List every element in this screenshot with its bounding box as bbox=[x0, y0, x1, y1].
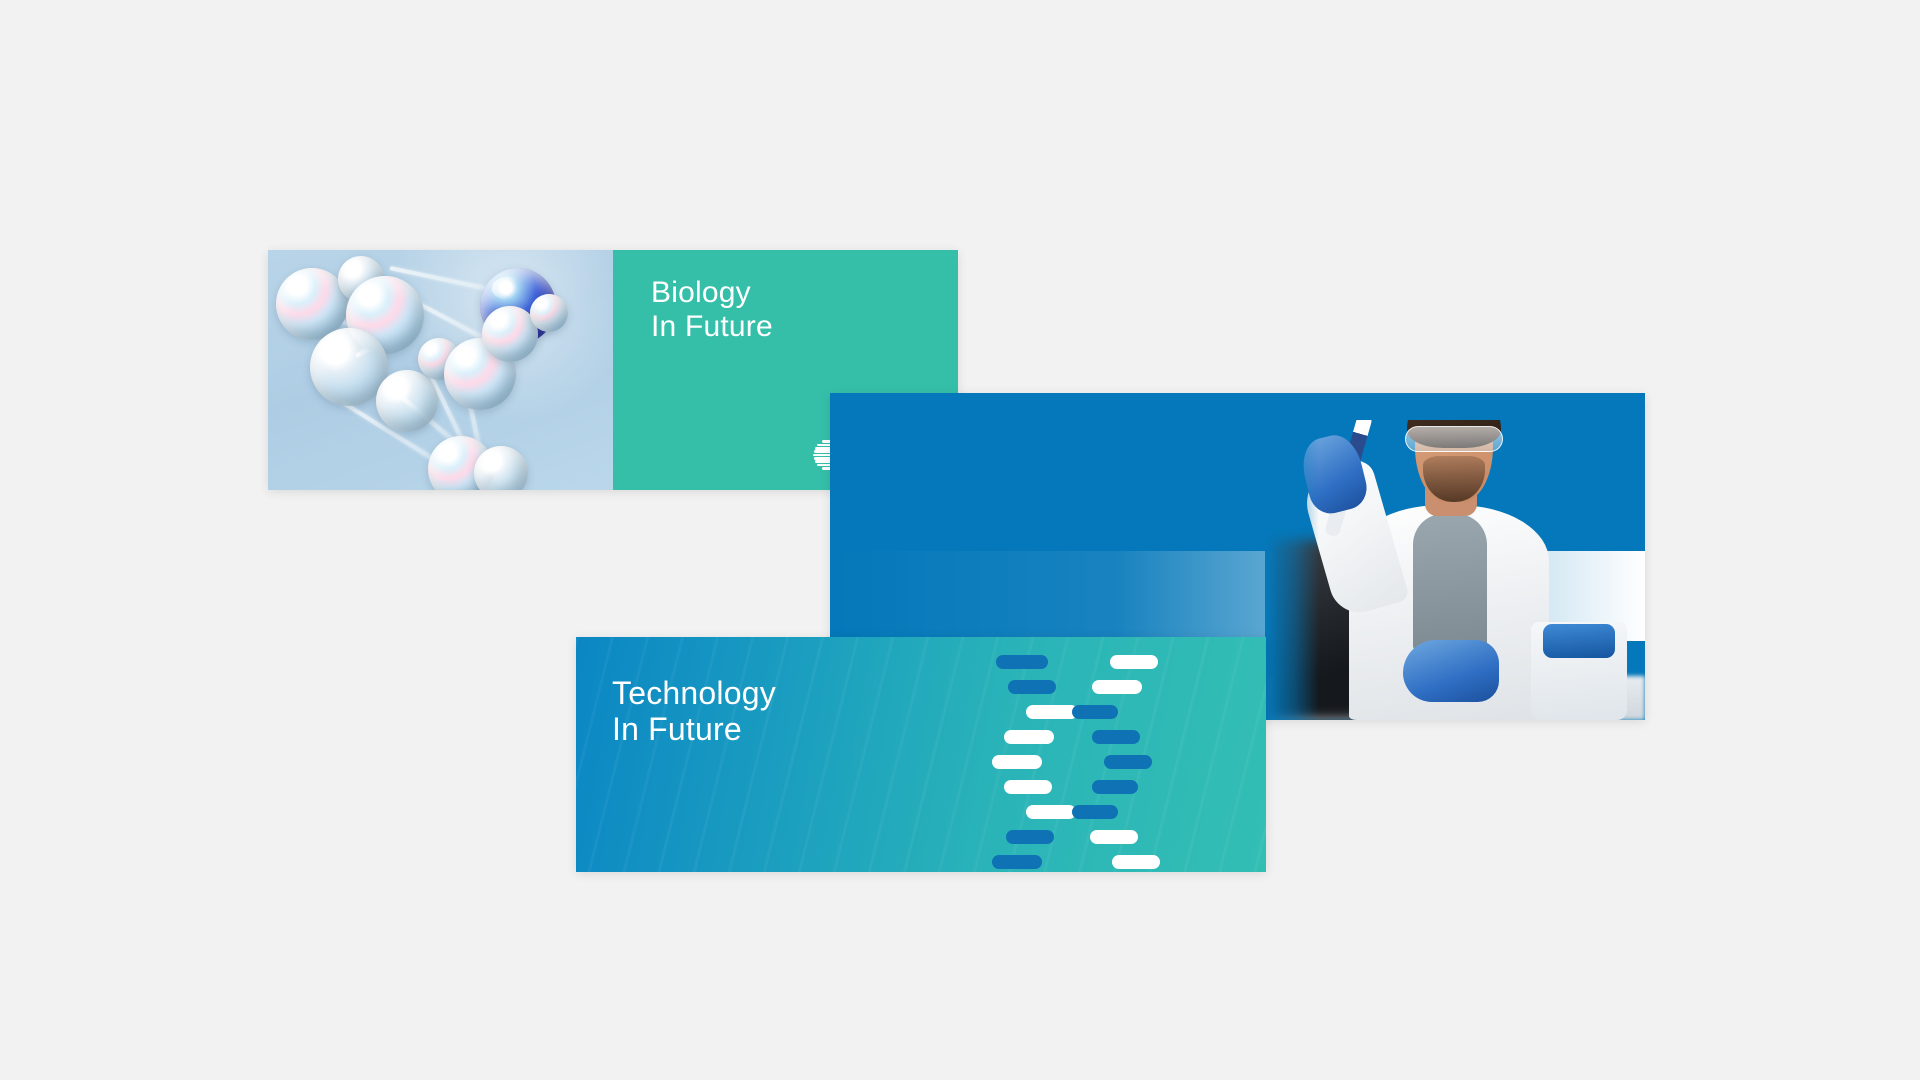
photo-left-fade bbox=[1265, 420, 1319, 720]
molecule-sphere-iris bbox=[530, 294, 568, 332]
sphere-highlight bbox=[483, 452, 506, 468]
sphere-highlight bbox=[288, 277, 318, 299]
dna-band-white bbox=[1090, 830, 1138, 844]
gloved-hand-lower bbox=[1403, 640, 1499, 702]
dna-band-blue bbox=[992, 855, 1042, 869]
sphere-highlight bbox=[358, 285, 391, 308]
banner-collage-stage: Biology In Future BIOASSIST 倍 美 斯 特 bbox=[0, 0, 1920, 1080]
sphere-highlight bbox=[491, 313, 515, 330]
molecule-photo bbox=[268, 250, 613, 490]
sphere-highlight bbox=[386, 377, 412, 396]
dna-band-white bbox=[992, 755, 1042, 769]
scientist-photo bbox=[1265, 420, 1645, 720]
dna-band-blue bbox=[996, 655, 1048, 669]
dna-band-white bbox=[1026, 805, 1076, 819]
sphere-highlight bbox=[456, 347, 486, 369]
dna-band-blue bbox=[1072, 805, 1118, 819]
molecule-sphere-clear bbox=[376, 370, 438, 432]
dna-band-white bbox=[1004, 730, 1054, 744]
sphere-highlight bbox=[425, 343, 443, 356]
sphere-highlight bbox=[492, 277, 524, 300]
sphere-highlight bbox=[345, 262, 364, 276]
technology-banner-card[interactable]: Technology In Future bbox=[576, 637, 1266, 872]
dna-band-blue bbox=[1006, 830, 1054, 844]
bottle-cap bbox=[1543, 624, 1615, 658]
dna-band-white bbox=[1004, 780, 1052, 794]
dna-band-blue bbox=[1104, 755, 1152, 769]
dna-band-blue bbox=[1072, 705, 1118, 719]
sphere-highlight bbox=[439, 444, 467, 464]
dna-band-white bbox=[1026, 705, 1078, 719]
sphere-highlight bbox=[322, 337, 355, 360]
sphere-highlight bbox=[536, 299, 552, 310]
biology-title: Biology In Future bbox=[651, 276, 773, 343]
dna-band-blue bbox=[1008, 680, 1056, 694]
dna-band-white bbox=[1110, 655, 1158, 669]
dna-band-blue bbox=[1092, 730, 1140, 744]
dna-band-white bbox=[1112, 855, 1160, 869]
shirt bbox=[1413, 514, 1487, 654]
dna-ladder-graphic bbox=[988, 655, 1168, 855]
technology-title: Technology In Future bbox=[612, 675, 776, 748]
safety-goggles-icon bbox=[1405, 426, 1503, 452]
dna-band-white bbox=[1092, 680, 1142, 694]
dna-band-blue bbox=[1092, 780, 1138, 794]
molecule-sphere-clear bbox=[474, 446, 528, 490]
